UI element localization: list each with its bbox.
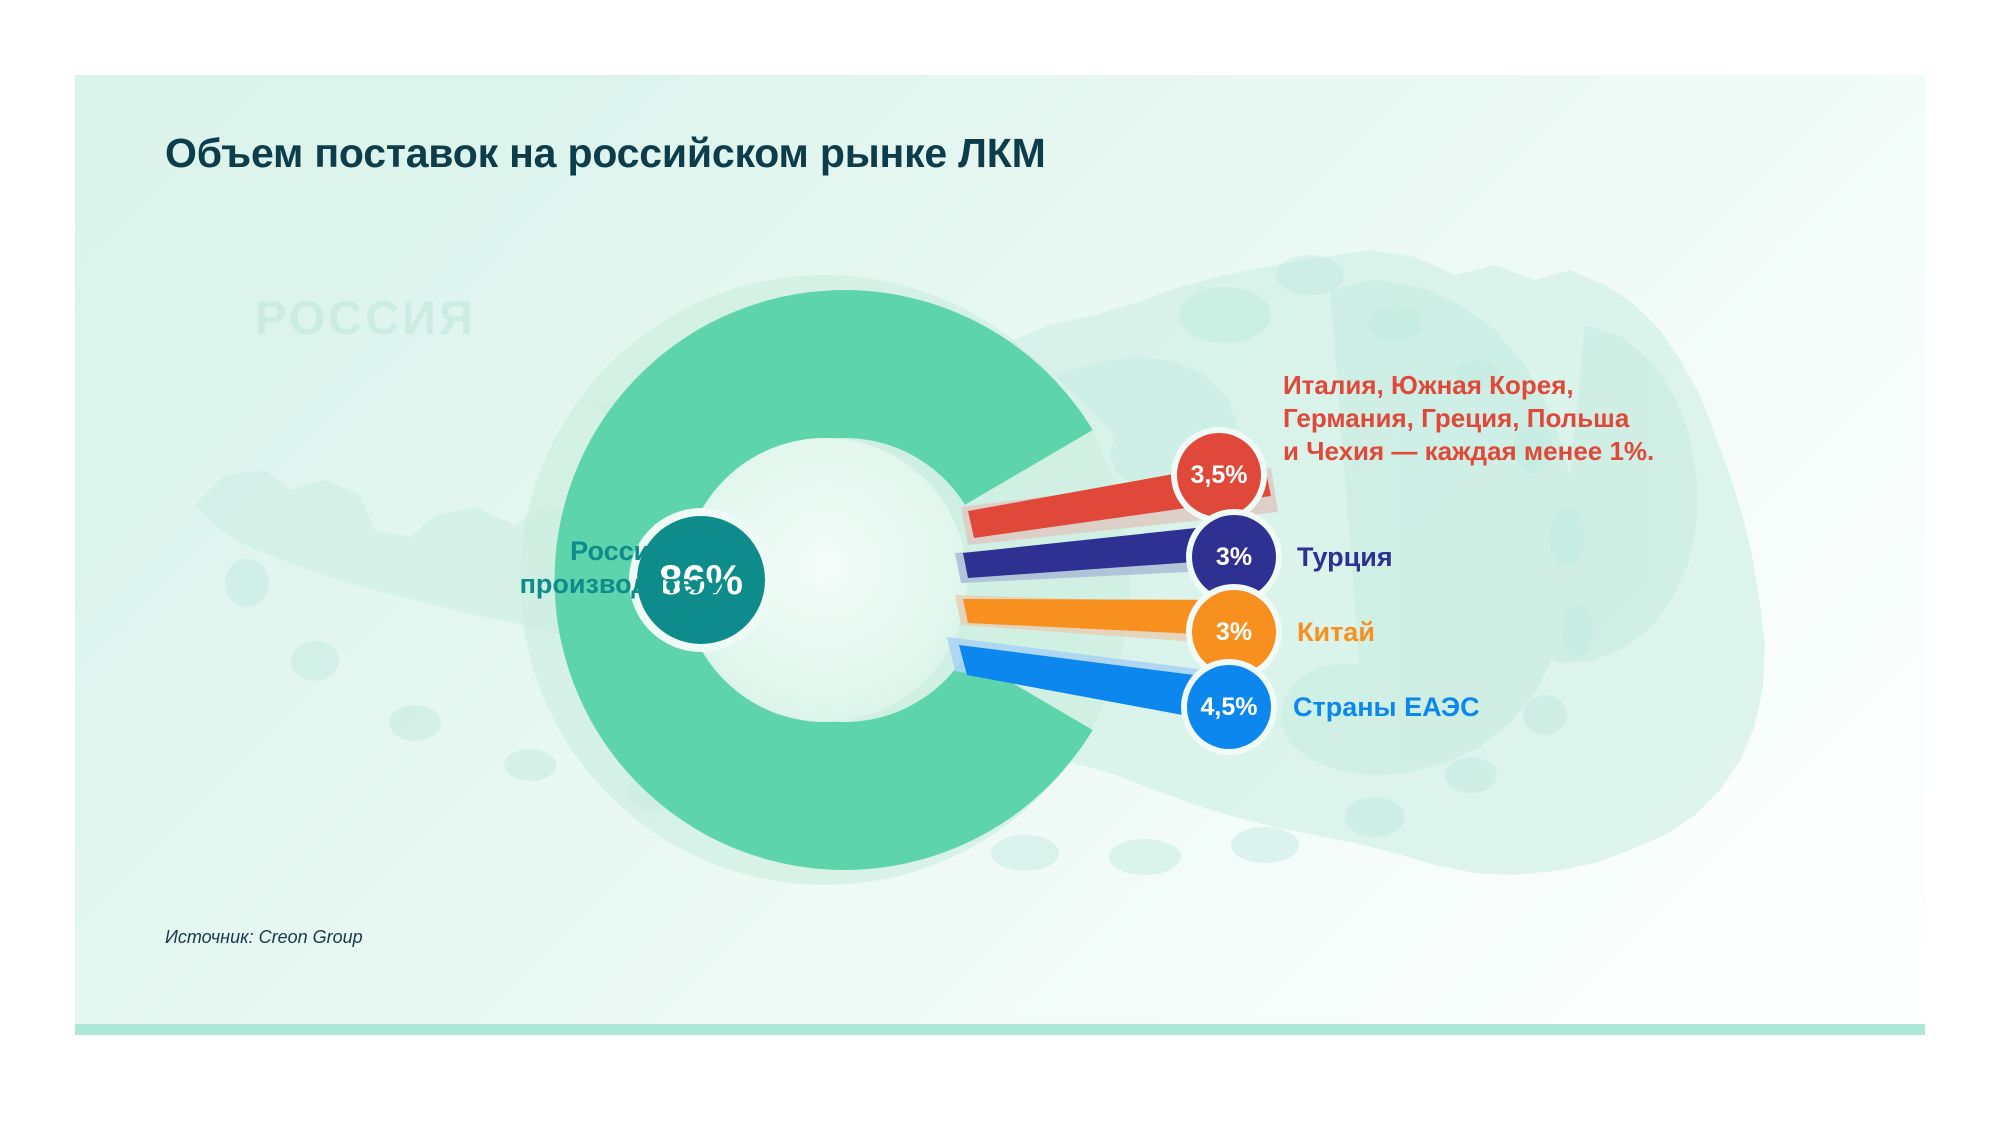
label-domestic-producers: Российские производители — [367, 535, 727, 601]
badge-turkey[interactable]: 3% — [1192, 515, 1276, 599]
donut-chart-svg — [75, 75, 1925, 1030]
badge-china-value: 3% — [1216, 618, 1252, 647]
infographic-card: Объем поставок на российском рынке ЛКМ Р… — [75, 75, 1925, 1030]
bottom-accent-bar — [75, 1024, 1925, 1035]
infographic-screen: Объем поставок на российском рынке ЛКМ Р… — [0, 0, 2000, 1125]
badge-eaeu-value: 4,5% — [1201, 693, 1258, 722]
label-china: Китай — [1297, 616, 1375, 649]
donut-chart — [75, 75, 1925, 1030]
source-note: Источник: Creon Group — [165, 927, 363, 948]
badge-china[interactable]: 3% — [1192, 590, 1276, 674]
badge-other-countries-value: 3,5% — [1191, 461, 1248, 490]
label-eaeu: Страны ЕАЭС — [1293, 691, 1480, 724]
badge-other-countries[interactable]: 3,5% — [1177, 433, 1261, 517]
label-other-countries: Италия, Южная Корея, Германия, Греция, П… — [1283, 369, 1763, 467]
badge-eaeu[interactable]: 4,5% — [1187, 665, 1271, 749]
label-turkey: Турция — [1297, 541, 1393, 574]
badge-turkey-value: 3% — [1216, 543, 1252, 572]
